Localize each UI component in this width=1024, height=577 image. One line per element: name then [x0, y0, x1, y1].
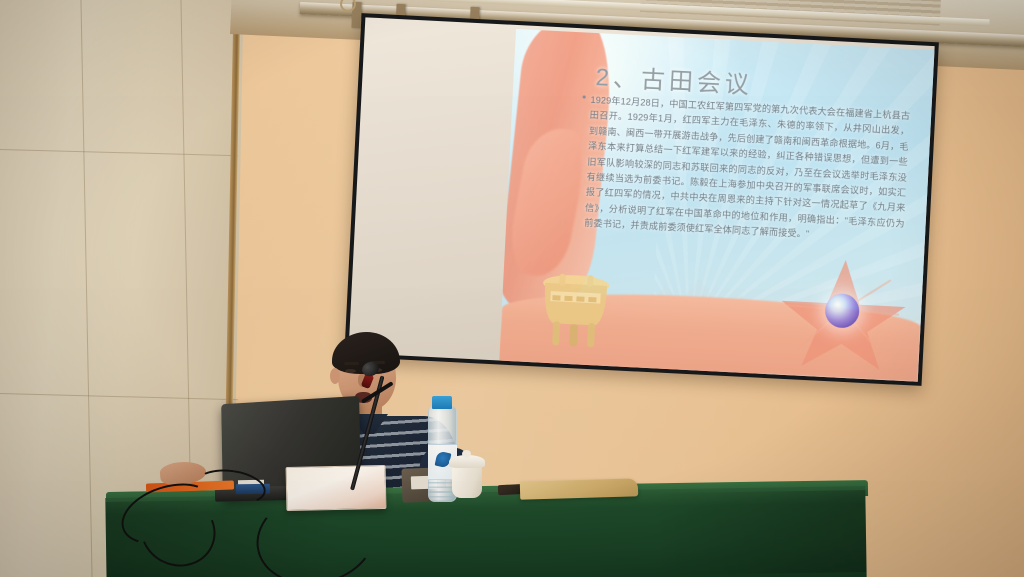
- water-bottle-cap[interactable]: [432, 396, 452, 409]
- tea-cup[interactable]: [452, 464, 482, 498]
- slide-body-text: 1929年12月28日，中国工农红军第四军党的第九次代表大会在福建省上杭县古田召…: [584, 93, 911, 248]
- name-placard: [286, 465, 387, 511]
- lecture-hall-photo: 2、古田会议 1929年12月28日，中国工农红军第四军党的第九次代表大会在福建…: [0, 0, 1024, 577]
- presenter-brow: [344, 362, 359, 365]
- slide-bullet-marker: [583, 95, 586, 98]
- presenter-eye: [345, 369, 356, 373]
- tea-cup-lid-knob: [462, 450, 471, 458]
- golden-ding-vessel-icon: [534, 260, 616, 350]
- red-star-emblem-icon: [776, 249, 910, 371]
- table-cloth-shading: [105, 490, 866, 577]
- paper-folder: [520, 478, 638, 499]
- presenter-ear: [330, 368, 340, 384]
- projected-slide: 2、古田会议 1929年12月28日，中国工农红军第四军党的第九次代表大会在福建…: [499, 29, 934, 382]
